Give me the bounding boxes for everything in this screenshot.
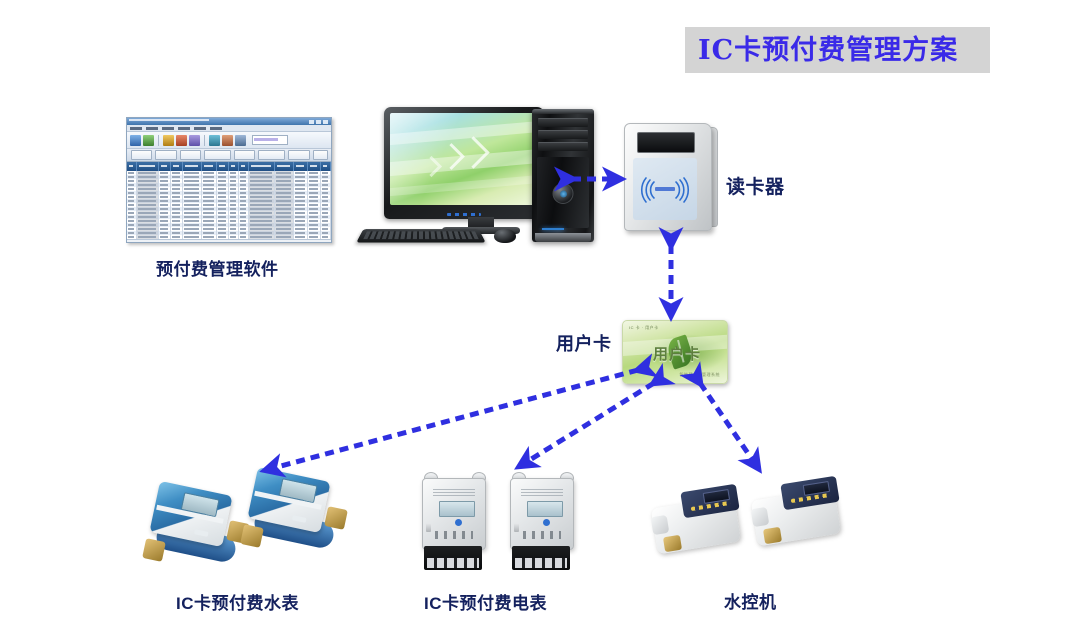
prepaid-water-meter[interactable] xyxy=(150,484,242,568)
controller-knob xyxy=(651,515,670,535)
software-filter-bar[interactable] xyxy=(127,149,331,162)
filter-button-4[interactable] xyxy=(204,150,231,160)
prepaid-water-meter[interactable] xyxy=(248,470,340,554)
software-titlebar xyxy=(127,118,331,125)
reader-card-pad[interactable] xyxy=(633,158,697,220)
filter-button-3[interactable] xyxy=(180,150,201,160)
controller-nut xyxy=(663,535,682,552)
label-prepaid-water-meter: IC卡预付费水表 xyxy=(176,589,299,614)
meter-nut-left xyxy=(142,538,166,562)
card-bottom-text: 智能预付费管理系统 xyxy=(680,372,721,378)
tower-top-panel xyxy=(532,109,594,114)
filter-button-1[interactable] xyxy=(131,150,152,160)
toolbar-combo-box[interactable] xyxy=(252,135,288,145)
prepaid-management-software-window[interactable] xyxy=(126,117,332,243)
label-user-card: 用户卡 xyxy=(556,330,612,356)
column-header[interactable] xyxy=(275,162,294,171)
toolbar-separator-2 xyxy=(204,135,205,146)
meter-printed-text xyxy=(521,489,563,497)
meter-tab xyxy=(292,515,307,523)
column-header[interactable] xyxy=(202,162,217,171)
toolbar-separator-1 xyxy=(158,135,159,146)
meter-printed-text xyxy=(433,489,475,497)
meter-screw xyxy=(426,523,431,532)
keyboard[interactable] xyxy=(356,229,486,242)
meter-nut-left xyxy=(240,524,264,548)
column-header[interactable] xyxy=(294,162,308,171)
column-header[interactable] xyxy=(171,162,183,171)
prepaid-electric-meter[interactable] xyxy=(418,472,492,576)
meter-tab xyxy=(194,529,209,537)
meter-nut-right xyxy=(324,506,348,530)
filter-button-6[interactable] xyxy=(258,150,285,160)
toolbar-icon-1[interactable] xyxy=(130,135,141,146)
software-toolbar[interactable] xyxy=(127,132,331,149)
meter-display xyxy=(527,501,563,517)
column-header[interactable] xyxy=(321,162,331,171)
desktop-computer[interactable] xyxy=(352,107,610,253)
toolbar-icon-5[interactable] xyxy=(189,135,200,146)
arrow-card-to-controller xyxy=(700,383,758,468)
software-menubar[interactable] xyxy=(127,125,331,132)
prepaid-electric-meter[interactable] xyxy=(506,472,580,576)
toolbar-icon-7[interactable] xyxy=(222,135,233,146)
water-controller[interactable] xyxy=(652,486,750,556)
toolbar-icon-2[interactable] xyxy=(143,135,154,146)
monitor-screen xyxy=(390,113,538,205)
toolbar-icon-8[interactable] xyxy=(235,135,246,146)
meter-markings xyxy=(523,531,561,539)
meter-display xyxy=(439,501,475,517)
computer-tower[interactable] xyxy=(532,109,594,242)
column-header[interactable] xyxy=(159,162,171,171)
label-prepaid-management-software: 预付费管理软件 xyxy=(156,255,279,280)
column-header[interactable] xyxy=(137,162,160,171)
meter-indicator xyxy=(455,519,462,526)
toolbar-icon-6[interactable] xyxy=(209,135,220,146)
card-face-text: 用户卡 xyxy=(653,343,701,364)
reader-brand-logo xyxy=(655,187,675,191)
power-button[interactable] xyxy=(553,183,574,204)
label-prepaid-electric-meter: IC卡预付费电表 xyxy=(424,589,547,614)
tower-base xyxy=(535,233,591,242)
toolbar-icon-3[interactable] xyxy=(163,135,174,146)
meter-markings xyxy=(435,531,473,539)
meter-case xyxy=(510,478,574,550)
card-top-text: IC 卡 · 用户卡 xyxy=(629,325,659,331)
water-controller[interactable] xyxy=(752,478,850,548)
page-title: IC卡预付费管理方案 xyxy=(698,32,988,70)
tower-drive-bay[interactable] xyxy=(538,130,588,139)
controller-nut xyxy=(763,527,782,544)
reader-display xyxy=(637,132,695,153)
filter-button-7[interactable] xyxy=(288,150,309,160)
tower-drive-bay[interactable] xyxy=(538,142,588,151)
tower-drive-bay[interactable] xyxy=(538,118,588,127)
arrow-card-to-electric-meter xyxy=(520,383,654,466)
filter-button-2[interactable] xyxy=(155,150,176,160)
arrow-card-to-water-meter xyxy=(266,370,638,470)
meter-terminal-block xyxy=(512,546,570,570)
label-card-reader: 读卡器 xyxy=(726,172,785,199)
label-water-controller: 水控机 xyxy=(724,588,777,613)
column-header[interactable] xyxy=(239,162,249,171)
window-control-buttons[interactable] xyxy=(309,120,329,124)
column-header[interactable] xyxy=(183,162,202,171)
column-header[interactable] xyxy=(229,162,239,171)
grid-status-line xyxy=(127,239,331,243)
ic-card-reader[interactable] xyxy=(624,123,724,231)
filter-button-8[interactable] xyxy=(313,150,329,160)
meter-case xyxy=(422,478,486,550)
software-title-text xyxy=(129,119,209,121)
filter-button-5[interactable] xyxy=(234,150,255,160)
data-grid-header xyxy=(127,162,331,171)
toolbar-icon-4[interactable] xyxy=(176,135,187,146)
diagram-canvas: IC卡预付费管理方案 xyxy=(0,0,1066,640)
meter-screw xyxy=(514,523,519,532)
monitor-brand-logo xyxy=(447,213,481,216)
meter-terminal-block xyxy=(424,546,482,570)
monitor xyxy=(384,107,544,219)
tower-led-strip xyxy=(542,228,564,230)
column-header[interactable] xyxy=(308,162,322,171)
mouse[interactable] xyxy=(494,229,516,243)
controller-knob xyxy=(751,507,770,527)
reader-body xyxy=(624,123,712,231)
ic-user-card[interactable]: IC 卡 · 用户卡 用户卡 智能预付费管理系统 xyxy=(622,320,728,384)
column-header[interactable] xyxy=(249,162,275,171)
meter-indicator xyxy=(543,519,550,526)
column-header[interactable] xyxy=(217,162,229,171)
data-grid-body[interactable] xyxy=(127,171,331,239)
column-header[interactable] xyxy=(127,162,137,171)
